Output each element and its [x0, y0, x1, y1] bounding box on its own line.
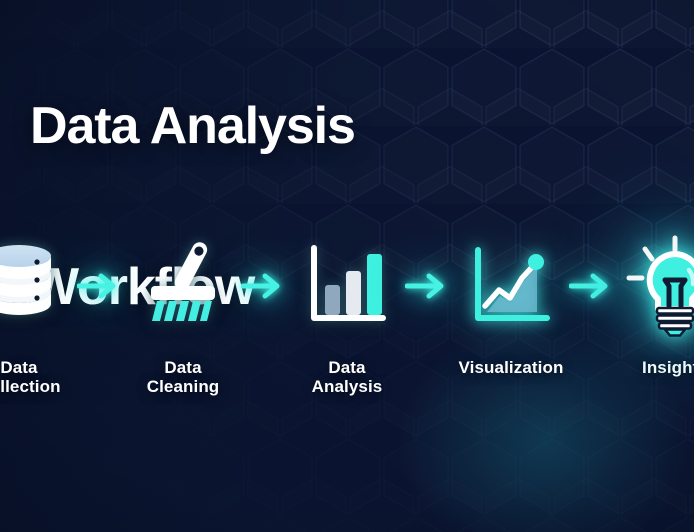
lightbulb-icon	[621, 232, 694, 340]
infographic-canvas: Data Analysis Workflow	[0, 0, 694, 532]
workflow-step-insights[interactable]: Insights	[621, 232, 694, 377]
workflow-step-data-collection[interactable]: Data Collection	[0, 232, 73, 396]
workflow-row: Data Collection	[0, 232, 694, 412]
arrow-right-icon	[565, 232, 621, 340]
workflow-step-data-analysis[interactable]: Data Analysis	[293, 232, 401, 396]
workflow-step-label: Insights	[642, 358, 694, 377]
workflow-step-visualization[interactable]: Visualization	[457, 232, 565, 377]
bar-chart-icon	[293, 232, 401, 340]
page-title-line1: Data Analysis	[30, 100, 355, 154]
brush-icon	[129, 232, 237, 340]
arrow-right-icon	[401, 232, 457, 340]
workflow-step-label: Visualization	[459, 358, 564, 377]
arrow-right-icon	[73, 232, 129, 340]
line-chart-icon	[457, 232, 565, 340]
workflow-step-label: Data Collection	[0, 358, 61, 396]
workflow-step-label: Data Cleaning	[147, 358, 220, 396]
workflow-step-data-cleaning[interactable]: Data Cleaning	[129, 232, 237, 396]
workflow-step-label: Data Analysis	[312, 358, 383, 396]
arrow-right-icon	[237, 232, 293, 340]
database-icon	[0, 232, 73, 340]
